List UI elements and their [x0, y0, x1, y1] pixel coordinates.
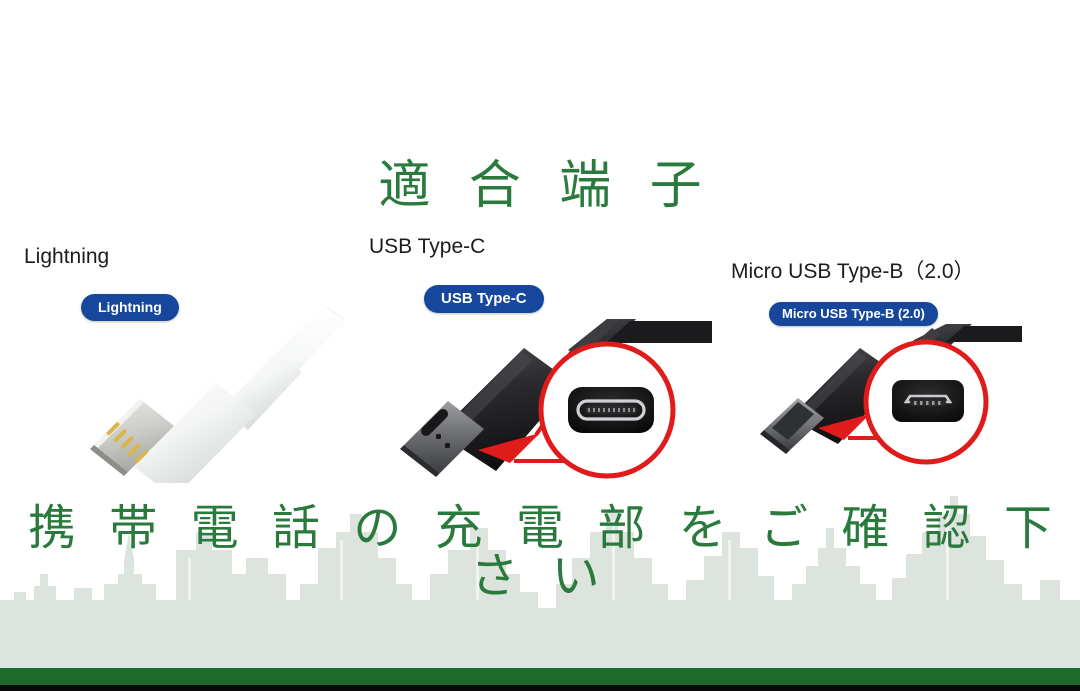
- bottom-green-bar: [0, 668, 1080, 685]
- connector-heading-micro-usb-type-b: Micro USB Type-B（2.0）: [731, 261, 975, 282]
- micro-usb-type-b-cable-photo: [760, 318, 1022, 473]
- usb-type-c-cable-photo: [392, 305, 712, 480]
- bottom-black-bar: [0, 685, 1080, 691]
- bottom-message: 携 帯 電 話 の 充 電 部 を ご 確 認 下 さ い: [0, 505, 1080, 601]
- badge-micro-usb-type-b: Micro USB Type-B (2.0): [769, 302, 938, 326]
- badge-lightning: Lightning: [81, 294, 179, 321]
- slide-canvas: 適 合 端 子 Lightning: [0, 0, 1080, 691]
- connector-heading-lightning: Lightning: [24, 246, 109, 267]
- connector-heading-usb-type-c: USB Type-C: [369, 236, 485, 257]
- badge-usb-type-c: USB Type-C: [424, 285, 544, 313]
- usb-type-c-illustration: [392, 305, 712, 480]
- page-title: 適 合 端 子: [0, 160, 1080, 212]
- micro-usb-type-b-illustration: [760, 318, 1022, 473]
